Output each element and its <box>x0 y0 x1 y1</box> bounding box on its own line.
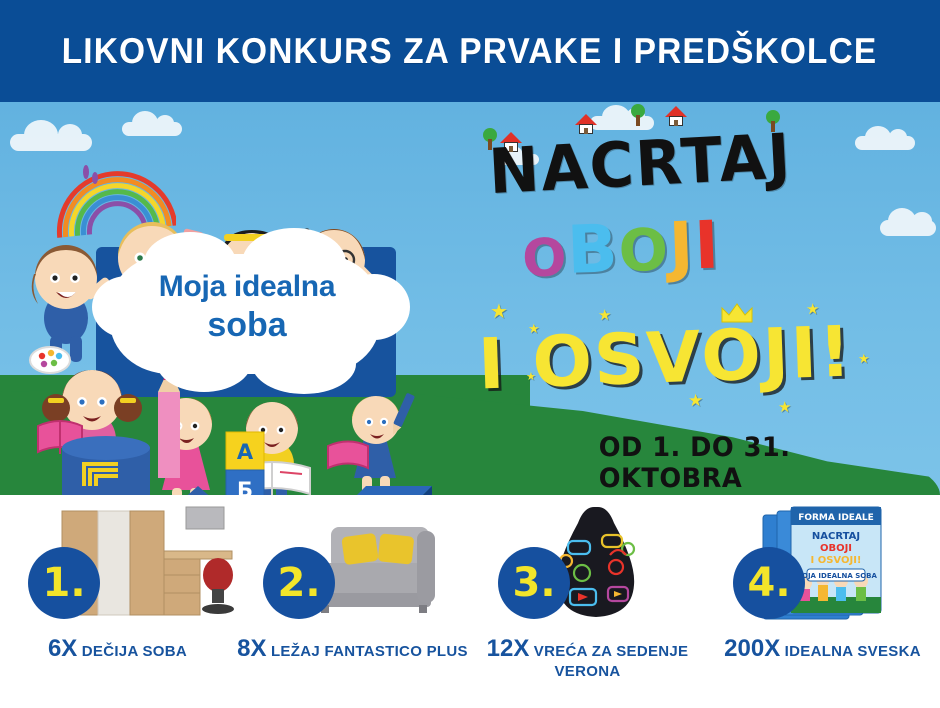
star-icon: ★ <box>778 400 791 415</box>
star-icon: ★ <box>490 302 508 322</box>
oboji-letter-j-3: J <box>667 207 695 285</box>
prize-number-badge: 4. <box>733 547 805 619</box>
prize-caption: 200X IDEALNA SVESKA <box>705 635 940 663</box>
prize-caption: 8X LEŽAJ FANTASTICO PLUS <box>235 635 470 663</box>
campaign-dates: OD 1. DO 31. OKTOBRA <box>599 432 932 494</box>
svg-text:MOJA IDEALNA SOBA: MOJA IDEALNA SOBA <box>795 572 877 580</box>
star-icon: ★ <box>806 302 819 317</box>
star-icon: ★ <box>688 392 703 409</box>
oboji-letter-o-0: O <box>521 228 568 290</box>
headline-block: NACRTAJ OBOJI I OSVOJI! ★ ★ ★ ★ ★ ★ ★ ★ … <box>470 102 940 495</box>
prize-item[interactable]: FORMA IDEALE NACRTAJ OBOJI I OSVOJI! MOJ… <box>705 495 940 708</box>
prize-quantity: 200X <box>724 635 780 662</box>
prize-caption: 6X DEČIJA SOBA <box>0 635 235 663</box>
prize-item[interactable]: 1. 6X DEČIJA SOBA <box>0 495 235 708</box>
svg-text:А: А <box>237 440 254 464</box>
prizes-strip: 1. 6X DEČIJA SOBA 2. <box>0 495 940 708</box>
svg-text:I OSVOJI!: I OSVOJI! <box>811 555 862 566</box>
tree-icon <box>630 104 646 126</box>
prize-title: DEČIJA SOBA <box>82 643 187 660</box>
oboji-letter-o-2: O <box>617 215 670 285</box>
prize-caption: 12X VREĆA ZA SEDENJE VERONA <box>470 635 705 681</box>
svg-text:NACRTAJ: NACRTAJ <box>812 531 860 542</box>
promo-banner-page: LIKOVNI KONKURS ZA PRVAKE I PREDŠKOLCE <box>0 0 940 708</box>
headline-nacrtaj: NACRTAJ <box>487 113 917 208</box>
brand-label: FORMA IDEALE <box>798 513 874 523</box>
prize-quantity: 12X <box>487 635 530 662</box>
hero-banner: А Б В <box>0 102 940 495</box>
prize-quantity: 6X <box>48 635 77 662</box>
prize-number-badge: 3. <box>498 547 570 619</box>
star-icon: ★ <box>858 352 870 365</box>
svg-text:Б: Б <box>237 478 253 495</box>
star-icon: ★ <box>598 308 611 323</box>
house-icon <box>665 106 687 126</box>
prize-item[interactable]: 2. 8X LEŽAJ FANTASTICO PLUS <box>235 495 470 708</box>
prize-title: IDEALNA SVESKA <box>785 643 921 660</box>
children-illustration: А Б В <box>0 102 480 495</box>
oboji-letter-b-1: B <box>566 210 620 289</box>
prize-number-badge: 2. <box>263 547 335 619</box>
bubble-text-block: Moja idealna soba <box>118 270 376 345</box>
header-bar: LIKOVNI KONKURS ZA PRVAKE I PREDŠKOLCE <box>0 0 940 102</box>
prize-number-badge: 1. <box>28 547 100 619</box>
bubble-line-1: Moja idealna <box>118 270 376 304</box>
prize-quantity: 8X <box>237 635 266 662</box>
bubble-line-2: soba <box>118 306 376 345</box>
star-icon: ★ <box>526 372 536 383</box>
prize-title: LEŽAJ FANTASTICO PLUS <box>271 643 468 660</box>
headline-oboji: OBOJI <box>521 207 722 291</box>
prize-item[interactable]: 3. 12X VREĆA ZA SEDENJE VERONA <box>470 495 705 708</box>
prize-title: VREĆA ZA SEDENJE VERONA <box>534 643 689 680</box>
star-icon: ★ <box>528 322 540 335</box>
svg-text:OBOJI: OBOJI <box>820 543 852 554</box>
oboji-letter-i-4: I <box>693 207 721 285</box>
page-title: LIKOVNI KONKURS ZA PRVAKE I PREDŠKOLCE <box>62 30 878 72</box>
